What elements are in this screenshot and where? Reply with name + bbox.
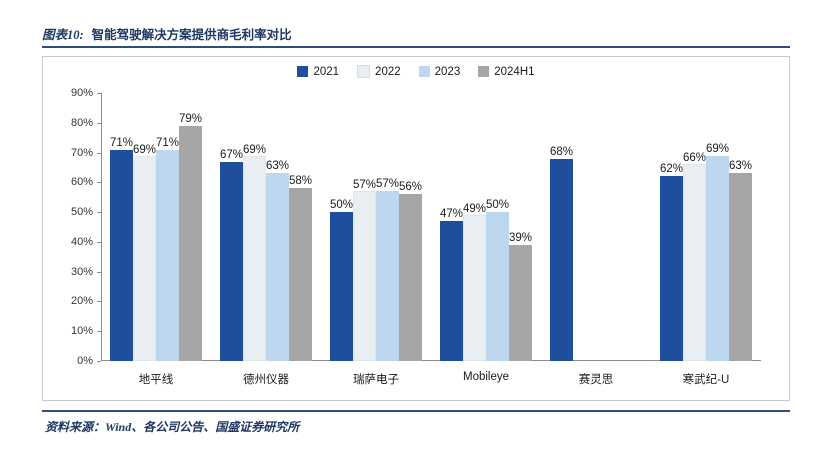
bar-value-label: 39% <box>509 232 532 244</box>
x-axis-category-label: 地平线 <box>101 371 211 387</box>
x-axis-category-label: 瑞萨电子 <box>321 371 431 387</box>
bar-2023-瑞萨电子[interactable]: 57% <box>376 191 399 361</box>
bar-value-label: 71% <box>156 137 179 149</box>
legend-label: 2024H1 <box>494 66 534 78</box>
bar-2021-Mobileye[interactable]: 47% <box>440 221 463 361</box>
bar-value-label: 50% <box>330 199 353 211</box>
legend-item-2024H1[interactable]: 2024H1 <box>478 66 534 78</box>
source-divider <box>42 410 790 412</box>
bar-group-bars: 62%66%69%63% <box>651 93 761 361</box>
bar-group: 68%赛灵思 <box>541 93 651 361</box>
y-axis-tick-label: 30% <box>59 266 93 278</box>
bar-2021-德州仪器[interactable]: 67% <box>220 162 243 362</box>
bar-2021-赛灵思[interactable]: 68% <box>550 159 573 361</box>
bar-2023-地平线[interactable]: 71% <box>156 150 179 361</box>
y-axis-tick-label: 70% <box>59 147 93 159</box>
bar-value-label: 68% <box>550 146 573 158</box>
y-axis-tick-label: 60% <box>59 176 93 188</box>
chart-legend: 2021202220232024H1 <box>43 65 789 78</box>
bar-value-label: 57% <box>353 179 376 191</box>
bar-group: 67%69%63%58%德州仪器 <box>211 93 321 361</box>
bar-group-bars: 50%57%57%56% <box>321 93 431 361</box>
bar-2024H1-地平线[interactable]: 79% <box>179 126 202 361</box>
bar-value-label: 79% <box>179 113 202 125</box>
legend-label: 2023 <box>435 66 461 78</box>
bar-group: 50%57%57%56%瑞萨电子 <box>321 93 431 361</box>
bar-value-label: 71% <box>110 137 133 149</box>
y-axis-tick-label: 20% <box>59 295 93 307</box>
legend-item-2023[interactable]: 2023 <box>419 66 461 78</box>
bar-value-label: 47% <box>440 208 463 220</box>
bar-2024H1-Mobileye[interactable]: 39% <box>509 245 532 361</box>
bar-group-bars: 67%69%63%58% <box>211 93 321 361</box>
legend-item-2022[interactable]: 2022 <box>357 65 401 78</box>
bar-group: 71%69%71%79%地平线 <box>101 93 211 361</box>
chart-container: 2021202220232024H1 0%10%20%30%40%50%60%7… <box>42 56 790 401</box>
legend-swatch-icon <box>297 66 308 77</box>
bar-2022-地平线[interactable]: 69% <box>133 156 156 361</box>
y-axis-tick-label: 40% <box>59 236 93 248</box>
x-axis-category-label: 寒武纪-U <box>651 371 761 387</box>
bar-2023-德州仪器[interactable]: 63% <box>266 173 289 361</box>
bar-group-bars: 71%69%71%79% <box>101 93 211 361</box>
figure-number: 图表10: <box>42 24 84 43</box>
y-axis-tick-mark <box>97 361 101 362</box>
bar-value-label: 58% <box>289 175 312 187</box>
bar-2024H1-德州仪器[interactable]: 58% <box>289 188 312 361</box>
title-divider <box>42 46 790 48</box>
bar-2021-瑞萨电子[interactable]: 50% <box>330 212 353 361</box>
bar-2021-地平线[interactable]: 71% <box>110 150 133 361</box>
x-axis-category-label: Mobileye <box>431 371 541 383</box>
figure-page: 图表10: 智能驾驶解决方案提供商毛利率对比 2021202220232024H… <box>0 0 830 466</box>
bar-2022-德州仪器[interactable]: 69% <box>243 156 266 361</box>
bar-value-label: 49% <box>463 203 486 215</box>
figure-title-row: 图表10: 智能驾驶解决方案提供商毛利率对比 <box>42 22 790 44</box>
bar-value-label: 69% <box>706 143 729 155</box>
bar-2024H1-瑞萨电子[interactable]: 56% <box>399 194 422 361</box>
page-title: 智能驾驶解决方案提供商毛利率对比 <box>92 24 292 43</box>
legend-swatch-icon <box>478 66 489 77</box>
x-axis-category-label: 德州仪器 <box>211 371 321 387</box>
bar-group: 47%49%50%39%Mobileye <box>431 93 541 361</box>
bar-value-label: 63% <box>266 160 289 172</box>
bar-2022-瑞萨电子[interactable]: 57% <box>353 191 376 361</box>
bar-2022-Mobileye[interactable]: 49% <box>463 215 486 361</box>
y-axis-tick-label: 10% <box>59 325 93 337</box>
bar-2022-寒武纪-U[interactable]: 66% <box>683 164 706 361</box>
legend-item-2021[interactable]: 2021 <box>297 66 339 78</box>
bar-value-label: 62% <box>660 163 683 175</box>
bar-value-label: 63% <box>729 160 752 172</box>
legend-swatch-icon <box>357 65 370 78</box>
bar-value-label: 56% <box>399 181 422 193</box>
legend-label: 2022 <box>375 66 401 78</box>
bar-2021-寒武纪-U[interactable]: 62% <box>660 176 683 361</box>
bar-2023-Mobileye[interactable]: 50% <box>486 212 509 361</box>
legend-swatch-icon <box>419 66 430 77</box>
y-axis-tick-label: 50% <box>59 206 93 218</box>
y-axis-tick-label: 80% <box>59 117 93 129</box>
bar-value-label: 69% <box>243 144 266 156</box>
y-axis-tick-label: 0% <box>59 355 93 367</box>
bar-value-label: 66% <box>683 152 706 164</box>
legend-label: 2021 <box>313 66 339 78</box>
x-axis-category-label: 赛灵思 <box>541 371 651 387</box>
bar-value-label: 69% <box>133 144 156 156</box>
bar-value-label: 67% <box>220 149 243 161</box>
y-axis-tick-label: 90% <box>59 87 93 99</box>
bar-group: 62%66%69%63%寒武纪-U <box>651 93 761 361</box>
bar-value-label: 57% <box>376 178 399 190</box>
bar-2024H1-寒武纪-U[interactable]: 63% <box>729 173 752 361</box>
bar-value-label: 50% <box>486 199 509 211</box>
source-note: 资料来源：Wind、各公司公告、国盛证券研究所 <box>45 418 299 435</box>
bar-2023-寒武纪-U[interactable]: 69% <box>706 156 729 361</box>
bar-group-bars: 68% <box>541 93 651 361</box>
plot-area: 0%10%20%30%40%50%60%70%80%90%71%69%71%79… <box>101 93 761 361</box>
bar-group-bars: 47%49%50%39% <box>431 93 541 361</box>
